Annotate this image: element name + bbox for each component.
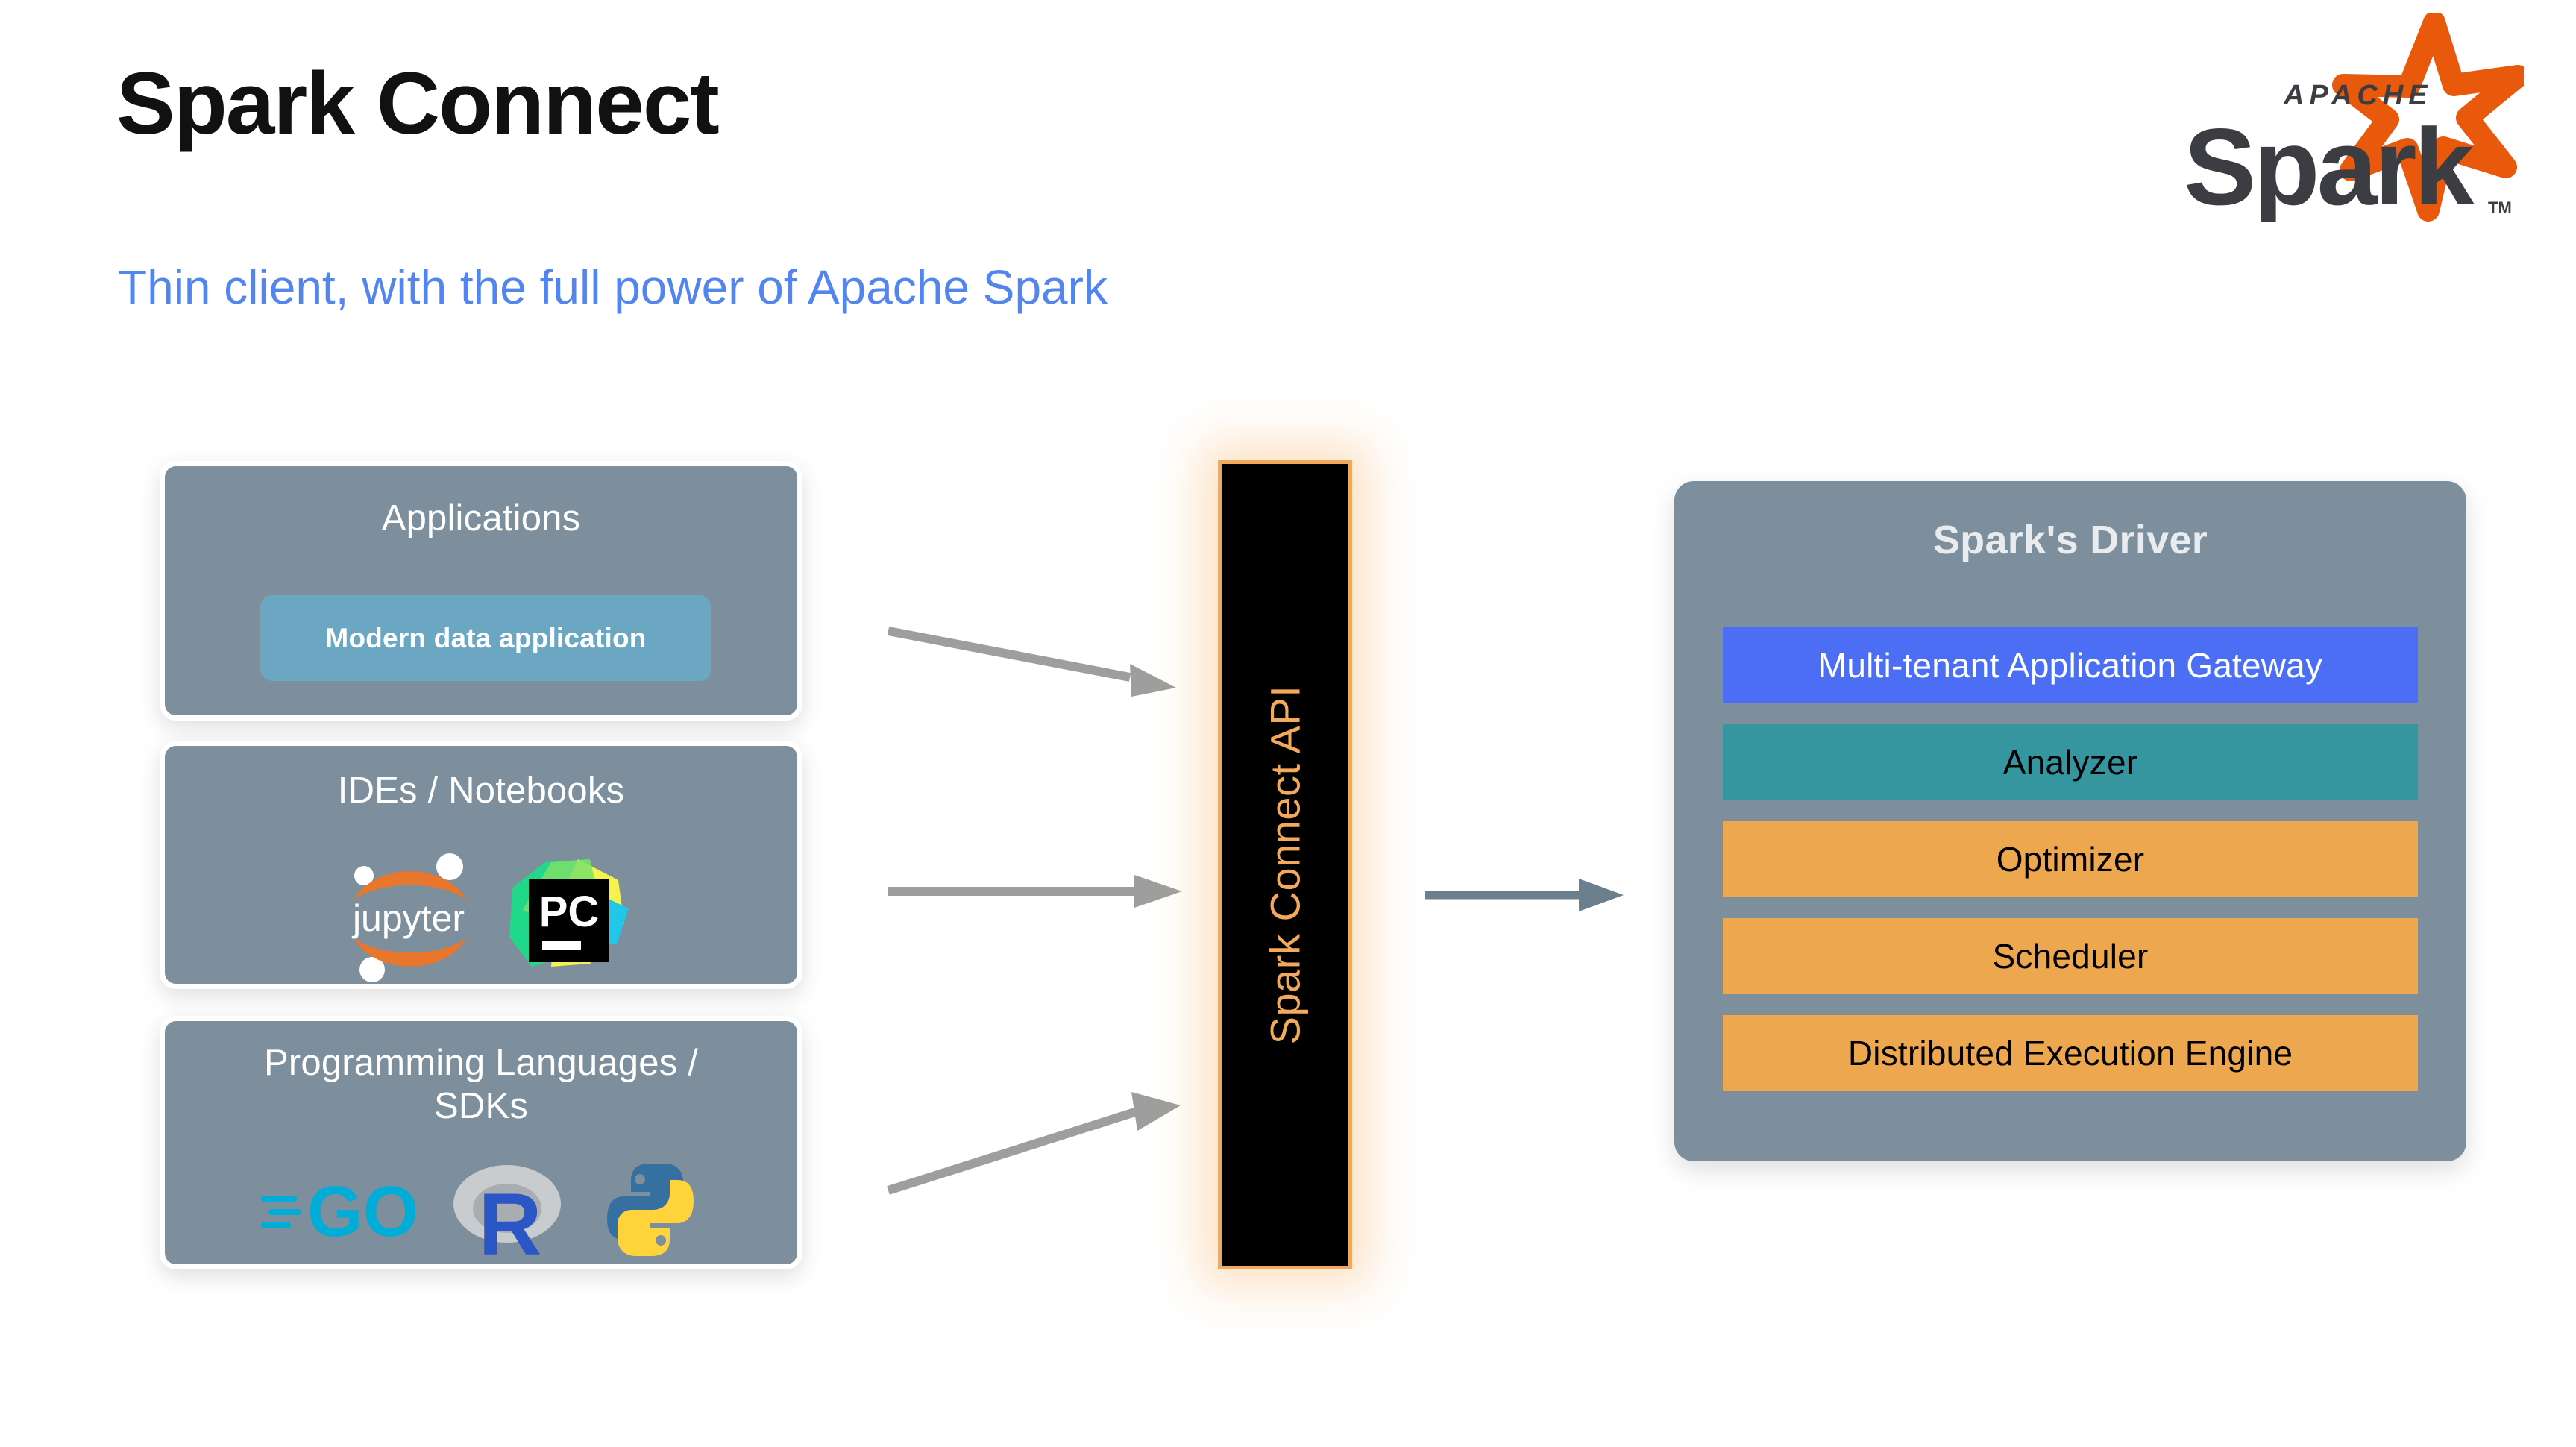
- r-letter: R: [478, 1176, 541, 1262]
- driver-layer-execution-engine[interactable]: Distributed Execution Engine: [1723, 1015, 2418, 1091]
- jupyter-icon: jupyter: [330, 850, 487, 985]
- spark-connect-api-bar[interactable]: Spark Connect API: [1218, 460, 1352, 1269]
- ide-logo-row: jupyter PC: [165, 850, 797, 985]
- card-applications[interactable]: Applications Modern data application: [160, 461, 802, 721]
- card-programming-languages[interactable]: Programming Languages / SDKs GO R: [160, 1016, 802, 1269]
- card-spark-driver[interactable]: Spark's Driver Multi-tenant Application …: [1674, 481, 2466, 1161]
- go-wordmark: GO: [307, 1172, 416, 1251]
- arrow-applications-to-api: [884, 619, 1197, 709]
- driver-layer-gateway[interactable]: Multi-tenant Application Gateway: [1723, 627, 2418, 703]
- slide-root: Spark Connect Thin client, with the full…: [0, 0, 2576, 1447]
- language-logo-row: GO R: [165, 1154, 797, 1266]
- card-languages-title: Programming Languages / SDKs: [165, 1042, 797, 1129]
- arrow-ides-to-api: [884, 861, 1197, 921]
- go-icon: GO: [260, 1169, 416, 1251]
- logo-spark-text: Spark: [2184, 106, 2475, 222]
- card-languages-title-line1: Programming Languages /: [264, 1043, 698, 1083]
- card-ides-title: IDEs / Notebooks: [165, 770, 797, 813]
- driver-layer-label: Scheduler: [1993, 936, 2149, 976]
- card-ides-notebooks[interactable]: IDEs / Notebooks jupyter PC: [160, 741, 802, 989]
- card-applications-title: Applications: [165, 497, 797, 541]
- driver-layer-label: Distributed Execution Engine: [1848, 1033, 2293, 1073]
- driver-layer-list: Multi-tenant Application Gateway Analyze…: [1723, 627, 2418, 1091]
- logo-trademark-text: TM: [2488, 198, 2512, 217]
- driver-layer-label: Multi-tenant Application Gateway: [1818, 645, 2322, 685]
- jupyter-wordmark: jupyter: [351, 897, 465, 939]
- pycharm-icon: PC: [506, 855, 632, 980]
- arrow-languages-to-api: [884, 1059, 1197, 1201]
- arrow-api-to-driver: [1421, 865, 1644, 925]
- spark-driver-title: Spark's Driver: [1674, 517, 2466, 563]
- spark-connect-api-label: Spark Connect API: [1261, 685, 1310, 1045]
- python-icon: [598, 1158, 703, 1262]
- pycharm-pc-text: PC: [539, 888, 600, 936]
- modern-data-application-box[interactable]: Modern data application: [260, 595, 711, 681]
- apache-spark-logo: APACHE Spark TM: [2151, 13, 2524, 222]
- r-icon: R: [447, 1158, 567, 1262]
- driver-layer-optimizer[interactable]: Optimizer: [1723, 821, 2418, 897]
- driver-layer-scheduler[interactable]: Scheduler: [1723, 918, 2418, 994]
- card-languages-title-line2: SDKs: [434, 1086, 528, 1126]
- page-title: Spark Connect: [116, 58, 718, 151]
- driver-layer-analyzer[interactable]: Analyzer: [1723, 724, 2418, 800]
- driver-layer-label: Optimizer: [1997, 839, 2145, 879]
- driver-layer-label: Analyzer: [2003, 742, 2138, 782]
- page-subtitle: Thin client, with the full power of Apac…: [118, 261, 1108, 313]
